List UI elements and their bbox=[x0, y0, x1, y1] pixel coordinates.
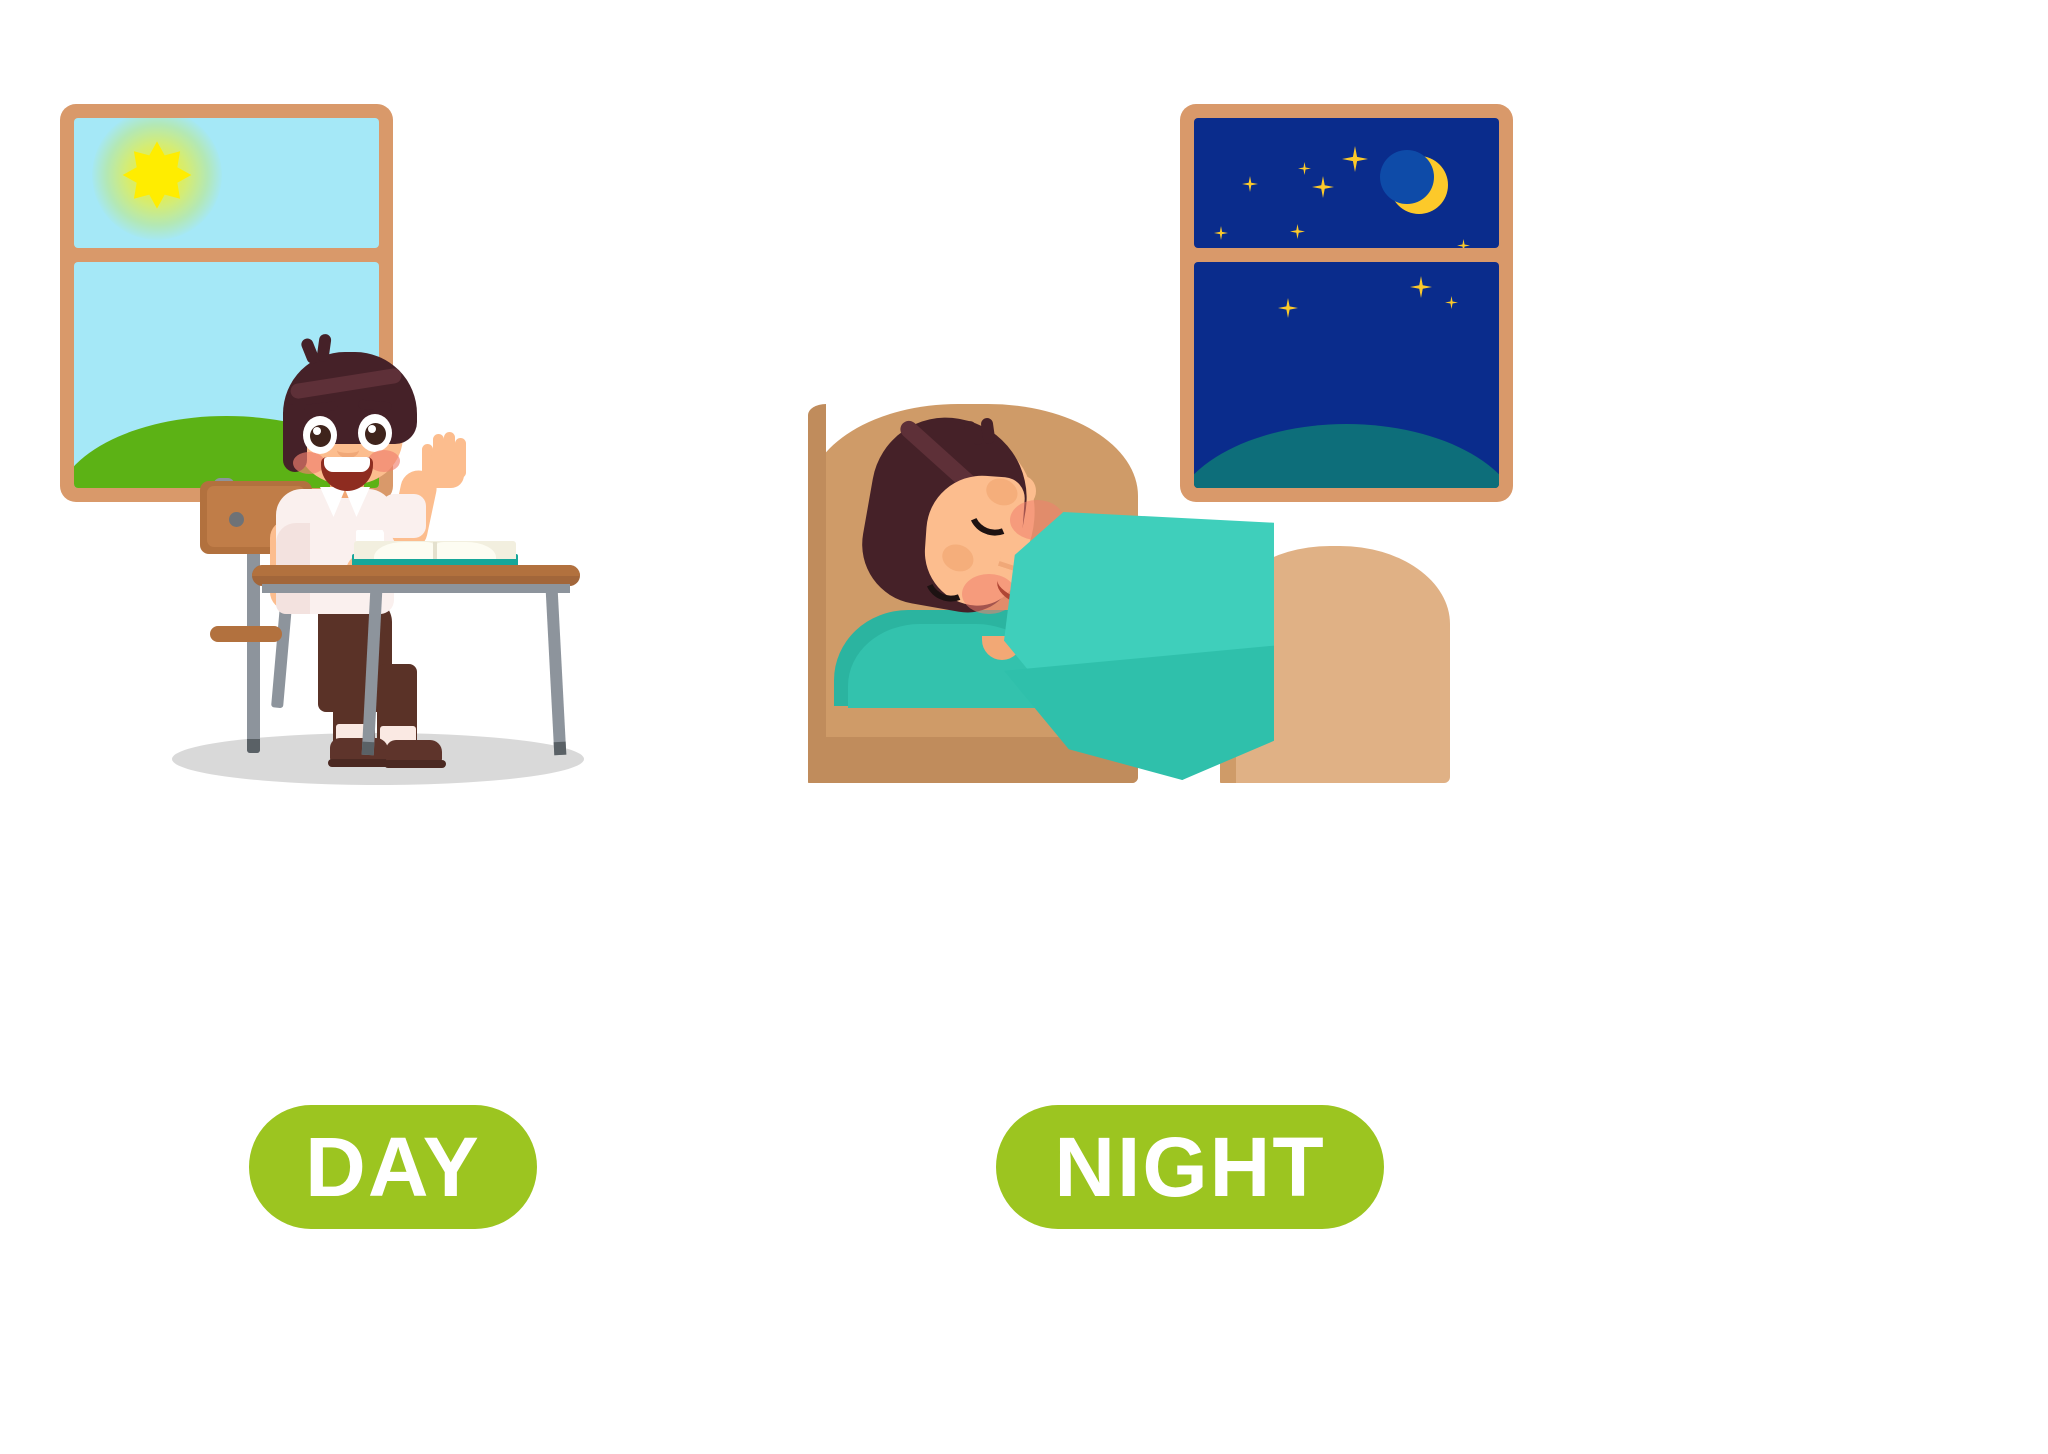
sun-icon bbox=[122, 140, 192, 210]
open-book bbox=[352, 541, 518, 567]
star-icon bbox=[1457, 239, 1470, 248]
day-label-text: DAY bbox=[305, 1125, 481, 1209]
night-hill bbox=[1194, 424, 1499, 488]
desk-apron bbox=[262, 584, 570, 593]
star-icon bbox=[1290, 224, 1305, 239]
sleeve-right bbox=[382, 494, 426, 538]
eye-left bbox=[303, 416, 337, 454]
star-icon bbox=[1312, 176, 1334, 198]
desk-leg-back bbox=[546, 590, 567, 755]
day-window-pane-top bbox=[74, 118, 379, 248]
star-icon bbox=[1242, 176, 1258, 192]
night-window bbox=[1180, 104, 1513, 502]
chair-screw-dot bbox=[229, 512, 244, 527]
night-scene-panel: NIGHT bbox=[1024, 0, 2048, 1454]
flashcard-canvas: DAY bbox=[0, 0, 2048, 1454]
shoe-right bbox=[386, 740, 442, 764]
night-label-text: NIGHT bbox=[1054, 1125, 1325, 1209]
shoe-left bbox=[330, 738, 388, 763]
day-label-pill[interactable]: DAY bbox=[249, 1105, 537, 1229]
waving-hand bbox=[420, 430, 466, 482]
night-window-pane-top bbox=[1194, 118, 1499, 248]
star-icon bbox=[1342, 146, 1368, 172]
desk-top bbox=[252, 565, 580, 586]
crescent-moon-icon bbox=[1390, 156, 1448, 214]
star-icon bbox=[1410, 276, 1432, 298]
night-label-pill[interactable]: NIGHT bbox=[996, 1105, 1384, 1229]
nose bbox=[337, 442, 359, 458]
night-window-pane-bottom bbox=[1194, 262, 1499, 488]
star-icon bbox=[1298, 162, 1311, 175]
star-icon bbox=[1278, 298, 1298, 318]
chair-armrest bbox=[210, 626, 282, 642]
star-icon bbox=[1214, 226, 1228, 240]
eye-right bbox=[358, 414, 392, 452]
star-icon bbox=[1445, 296, 1458, 309]
